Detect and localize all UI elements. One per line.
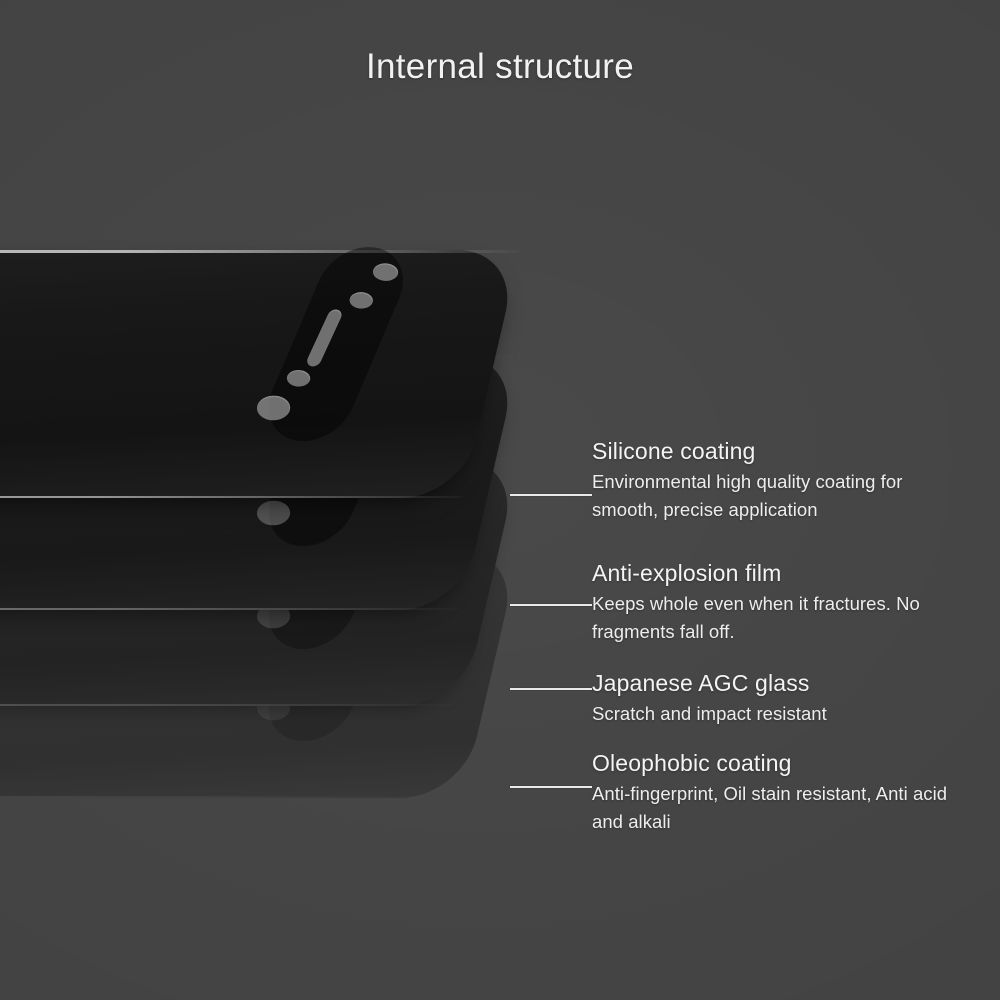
infographic-canvas: Internal structure	[0, 0, 1000, 1000]
layer-top-edge-highlight	[0, 250, 520, 253]
callout-title: Oleophobic coating	[592, 750, 958, 777]
protector-layer-silicone-coating	[0, 250, 520, 498]
leader-line	[510, 494, 592, 496]
layer-bottom-edge-highlight	[0, 704, 463, 706]
callout-text-block: Silicone coating Environmental high qual…	[592, 438, 958, 524]
layer-bottom-edge-highlight	[0, 796, 463, 798]
layer-face	[0, 250, 520, 498]
callout-description: Environmental high quality coating for s…	[592, 468, 958, 524]
callout-text-block: Anti-explosion film Keeps whole even whe…	[592, 560, 958, 646]
layer-bottom-edge-highlight	[0, 496, 463, 498]
callout-text-block: Oleophobic coating Anti-fingerprint, Oil…	[592, 750, 958, 836]
layer-bottom-edge-highlight	[0, 608, 462, 610]
screen-protector-layer-stack	[0, 250, 540, 830]
callout-title: Anti-explosion film	[592, 560, 958, 587]
leader-line	[510, 604, 592, 606]
callout-text-block: Japanese AGC glass Scratch and impact re…	[592, 670, 827, 728]
callout-description: Keeps whole even when it fractures. No f…	[592, 590, 958, 646]
page-title: Internal structure	[0, 47, 1000, 87]
callout-title: Silicone coating	[592, 438, 958, 465]
callout-description: Scratch and impact resistant	[592, 700, 827, 728]
callout-title: Japanese AGC glass	[592, 670, 827, 697]
leader-line	[510, 786, 592, 788]
callout-description: Anti-fingerprint, Oil stain resistant, A…	[592, 780, 958, 836]
leader-line	[510, 688, 592, 690]
